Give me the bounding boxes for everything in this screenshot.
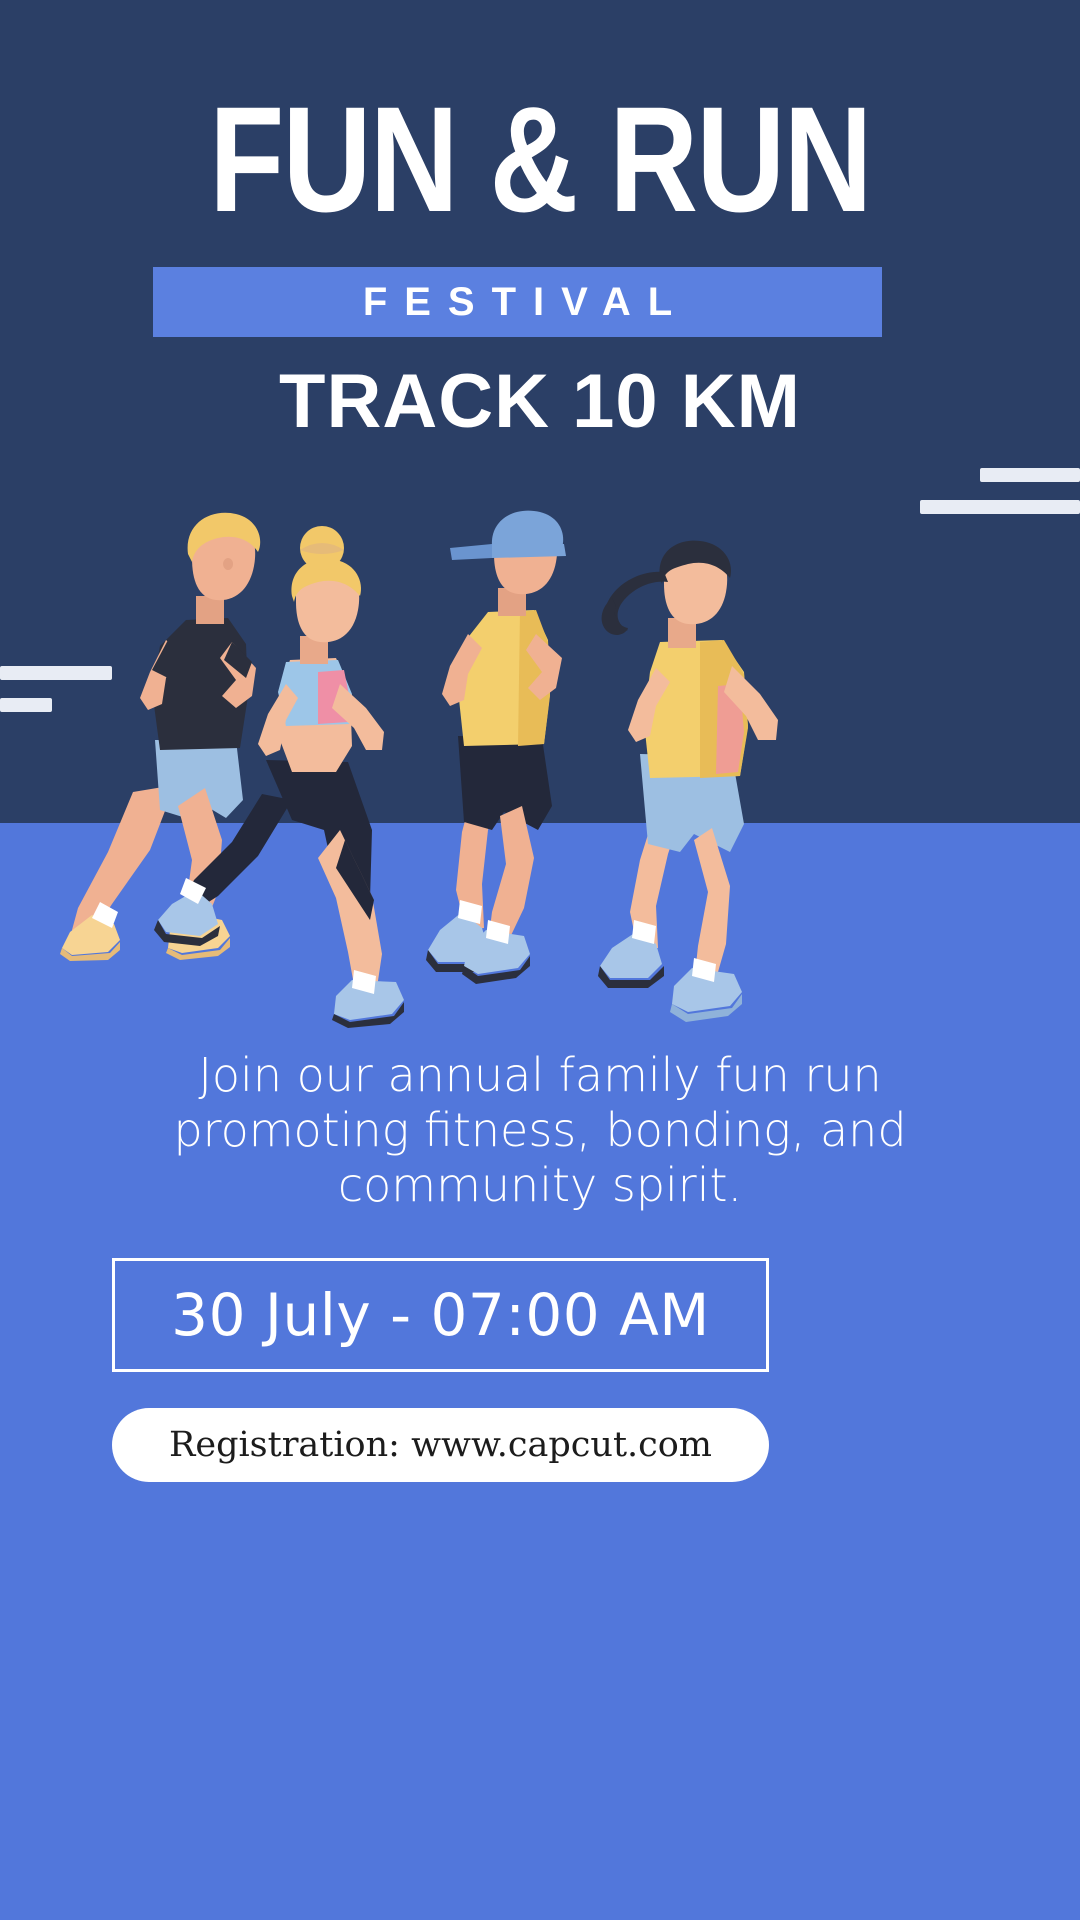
- page-title: FUN & RUN: [97, 84, 983, 234]
- track-distance-label: TRACK 10 KM: [0, 358, 1080, 445]
- date-time-box: 30 July - 07:00 AM: [112, 1258, 769, 1372]
- runner-3-figure: [426, 511, 566, 984]
- runner-4-figure: [598, 541, 778, 1022]
- four-runners-illustration: [0, 500, 1080, 1040]
- registration-label: Registration: www.capcut.com: [169, 1425, 712, 1465]
- poster-canvas: FUN & RUN FESTIVAL TRACK 10 KM: [0, 0, 1080, 1920]
- festival-band: FESTIVAL: [153, 267, 882, 337]
- festival-label: FESTIVAL: [346, 280, 689, 325]
- registration-button[interactable]: Registration: www.capcut.com: [112, 1408, 769, 1482]
- speed-dash-right-top: [980, 468, 1080, 482]
- runner-1-figure: [60, 513, 260, 961]
- event-description: Join our annual family fun run promoting…: [80, 1048, 1000, 1214]
- date-time-label: 30 July - 07:00 AM: [171, 1281, 710, 1349]
